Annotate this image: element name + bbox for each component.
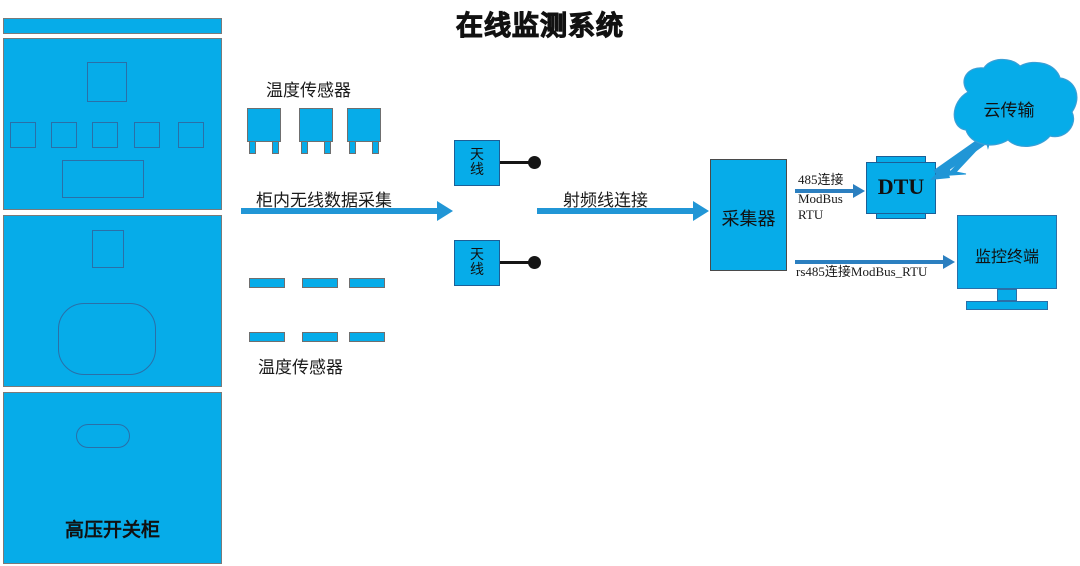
- link-rs485-label: rs485连接ModBus_RTU: [796, 261, 927, 280]
- cabinet-upper-small-square: [92, 122, 118, 148]
- sensor-leg: [249, 142, 256, 154]
- cabinet-label: 高压开关柜: [3, 515, 222, 542]
- sensor-leg: [349, 142, 356, 154]
- link-485-label-line3: RTU: [798, 207, 823, 222]
- temperature-sensor-bar: [349, 278, 385, 288]
- sensor-body: [347, 108, 381, 142]
- arrow-head: [943, 255, 955, 269]
- antenna-wire-upper: [500, 161, 530, 164]
- temperature-sensor-label-bottom: 温度传感器: [258, 353, 343, 378]
- antenna-tip-icon-upper: [528, 156, 541, 169]
- temperature-sensor-bar: [249, 278, 285, 288]
- antenna-wire-lower: [500, 261, 530, 264]
- cabinet-middle-square: [92, 230, 124, 268]
- cabinet-upper-small-square: [10, 122, 36, 148]
- arrow-shaft: [537, 208, 693, 214]
- cabinet-upper-small-square: [134, 122, 160, 148]
- sensor-body: [299, 108, 333, 142]
- temperature-sensor-label-top: 温度传感器: [266, 76, 351, 101]
- monitor-stand-neck: [997, 289, 1017, 301]
- antenna-box-upper: 天线: [454, 140, 500, 186]
- arrow-head: [693, 201, 709, 221]
- monitor-label: 监控终端: [957, 243, 1057, 267]
- temperature-sensor-icon: [347, 108, 381, 154]
- cabinet-upper-large-square: [87, 62, 127, 102]
- temperature-sensor-icon: [299, 108, 333, 154]
- cloud-label: 云传输: [944, 96, 1074, 121]
- cabinet-lower-pill-shape: [76, 424, 130, 448]
- sensor-leg: [272, 142, 279, 154]
- link-485-label-line1: 485连接: [798, 172, 844, 187]
- collector-label: 采集器: [710, 205, 787, 231]
- dtu-label: DTU: [866, 174, 936, 200]
- antenna-label: 天线: [469, 248, 485, 278]
- temperature-sensor-bar: [349, 332, 385, 342]
- monitor-stand-base: [966, 301, 1048, 310]
- antenna-tip-icon-lower: [528, 256, 541, 269]
- cabinet-middle-rounded-shape: [58, 303, 156, 375]
- cabinet-top-bar: [3, 18, 222, 34]
- cabinet-upper-rectangle: [62, 160, 144, 198]
- sensor-leg: [324, 142, 331, 154]
- temperature-sensor-icon: [247, 108, 281, 154]
- arrow-head: [853, 184, 865, 198]
- arrow-head: [437, 201, 453, 221]
- wireless-collection-arrow: [241, 205, 453, 217]
- temperature-sensor-bar: [302, 278, 338, 288]
- link-485-label-line2: ModBus: [798, 191, 843, 206]
- antenna-label: 天线: [469, 148, 485, 178]
- temperature-sensor-bar: [249, 332, 285, 342]
- sensor-leg: [372, 142, 379, 154]
- sensor-body: [247, 108, 281, 142]
- arrow-shaft: [241, 208, 437, 214]
- antenna-box-lower: 天线: [454, 240, 500, 286]
- cabinet-upper-small-square: [178, 122, 204, 148]
- temperature-sensor-bar: [302, 332, 338, 342]
- sensor-leg: [301, 142, 308, 154]
- rf-cable-arrow: [537, 205, 709, 217]
- cabinet-upper-small-square: [51, 122, 77, 148]
